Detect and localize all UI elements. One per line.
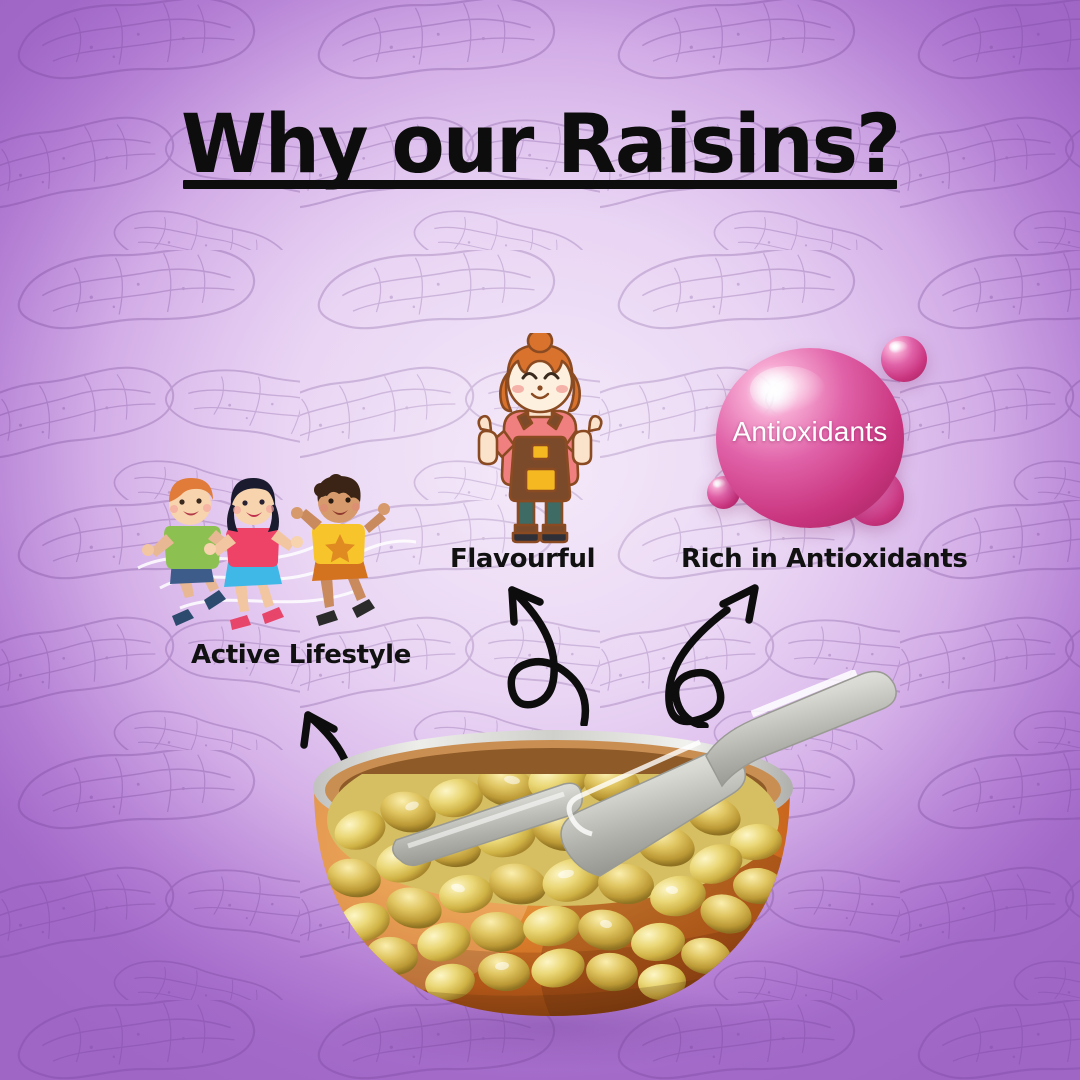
feature-label-active-lifestyle: Active Lifestyle — [191, 640, 411, 670]
feature-label-flavourful: Flavourful — [450, 544, 595, 574]
poster-canvas: Why our Raisins? — [0, 0, 1080, 1080]
page-title-wrap: Why our Raisins? — [0, 104, 1080, 187]
title-underline — [183, 180, 897, 189]
feature-label-rich-in-antioxidants: Rich in Antioxidants — [681, 544, 967, 574]
bowl-of-golden-raisins — [300, 670, 920, 1070]
antioxidant-molecule-spheres: Antioxidants — [690, 320, 940, 545]
molecule-label: Antioxidants — [716, 416, 904, 448]
molecule-satellite-top-right — [881, 336, 927, 382]
chef-girl-thumbs-up-illustration — [464, 333, 616, 545]
page-title: Why our Raisins? — [181, 104, 899, 187]
running-children-illustration — [120, 468, 420, 633]
